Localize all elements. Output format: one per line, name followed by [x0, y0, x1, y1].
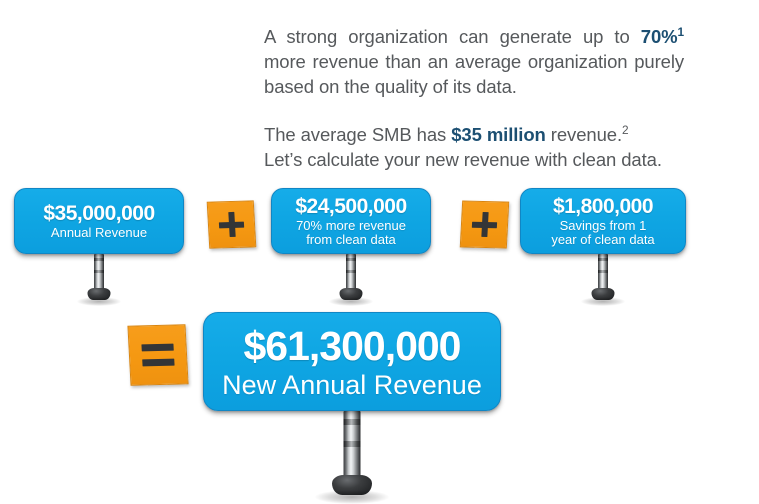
post-band: [598, 258, 608, 261]
plus-operator-icon: [460, 200, 509, 248]
sign-post-assembly: [84, 254, 114, 304]
post-ground-shadow: [329, 297, 373, 306]
plus-glyph: [471, 212, 497, 238]
post-ground-shadow: [315, 490, 389, 504]
plus-operator-icon: [207, 200, 257, 248]
sign-caption-line-2: from clean data: [306, 233, 396, 247]
calculate-prompt: Let’s calculate your new revenue with cl…: [264, 149, 662, 170]
intro-paragraph-1-tail: more revenue than an average organizatio…: [264, 51, 684, 97]
post-band: [94, 258, 104, 261]
sign-post-assembly: [328, 411, 376, 501]
footnote-marker-2: 2: [622, 123, 628, 137]
equals-bar-bottom: [142, 359, 174, 367]
post-band: [94, 270, 104, 273]
sign-caption-line-1: New Annual Revenue: [222, 371, 482, 400]
post-band: [598, 270, 608, 273]
smb-revenue-tail: revenue.: [546, 124, 622, 145]
sign-amount: $24,500,000: [295, 195, 406, 219]
post-band: [346, 258, 356, 261]
sign-board: $35,000,000 Annual Revenue: [14, 188, 184, 254]
sign-board: $24,500,000 70% more revenue from clean …: [271, 188, 431, 254]
post-band: [346, 270, 356, 273]
intro-copy-block: A strong organization can generate up to…: [264, 24, 684, 172]
stat-70-percent: 70%: [641, 26, 678, 47]
plus-glyph: [218, 212, 244, 238]
sign-board: $61,300,000 New Annual Revenue: [203, 312, 501, 411]
sign-post: [598, 254, 608, 292]
stat-35-million: $35 million: [451, 124, 546, 145]
sign-caption-line-1: 70% more revenue: [296, 219, 406, 233]
sign-more-revenue: $24,500,000 70% more revenue from clean …: [271, 188, 431, 254]
sign-board: $1,800,000 Savings from 1 year of clean …: [520, 188, 686, 254]
sign-amount: $1,800,000: [553, 195, 653, 219]
sign-caption-line-1: Savings from 1: [560, 219, 647, 233]
sign-post-assembly: [588, 254, 618, 304]
sign-new-annual-revenue: $61,300,000 New Annual Revenue: [203, 312, 501, 411]
post-ground-shadow: [77, 297, 121, 306]
equals-bar-top: [141, 344, 173, 352]
sign-caption-line-2: year of clean data: [551, 233, 654, 247]
post-band: [344, 419, 361, 425]
sign-post: [94, 254, 104, 292]
smb-revenue-lead: The average SMB has: [264, 124, 451, 145]
sign-amount: $35,000,000: [43, 202, 154, 226]
intro-paragraph-1-lead: A strong organization can generate up to: [264, 26, 641, 47]
intro-paragraph-1: A strong organization can generate up to…: [264, 24, 684, 99]
post-ground-shadow: [581, 297, 625, 306]
intro-paragraph-2: The average SMB has $35 million revenue.…: [264, 122, 684, 172]
equals-glyph: [141, 343, 174, 368]
sign-amount: $61,300,000: [243, 323, 460, 370]
post-band: [344, 441, 361, 447]
plus-bar-vertical: [228, 212, 235, 237]
sign-post-assembly: [336, 254, 366, 304]
footnote-marker-1: 1: [678, 25, 684, 39]
equals-operator-icon: [127, 324, 188, 385]
sign-savings: $1,800,000 Savings from 1 year of clean …: [520, 188, 686, 254]
sign-annual-revenue: $35,000,000 Annual Revenue: [14, 188, 184, 254]
sign-post: [344, 411, 361, 483]
sign-caption-line-1: Annual Revenue: [51, 226, 147, 240]
plus-bar-vertical: [481, 212, 488, 237]
sign-post: [346, 254, 356, 292]
